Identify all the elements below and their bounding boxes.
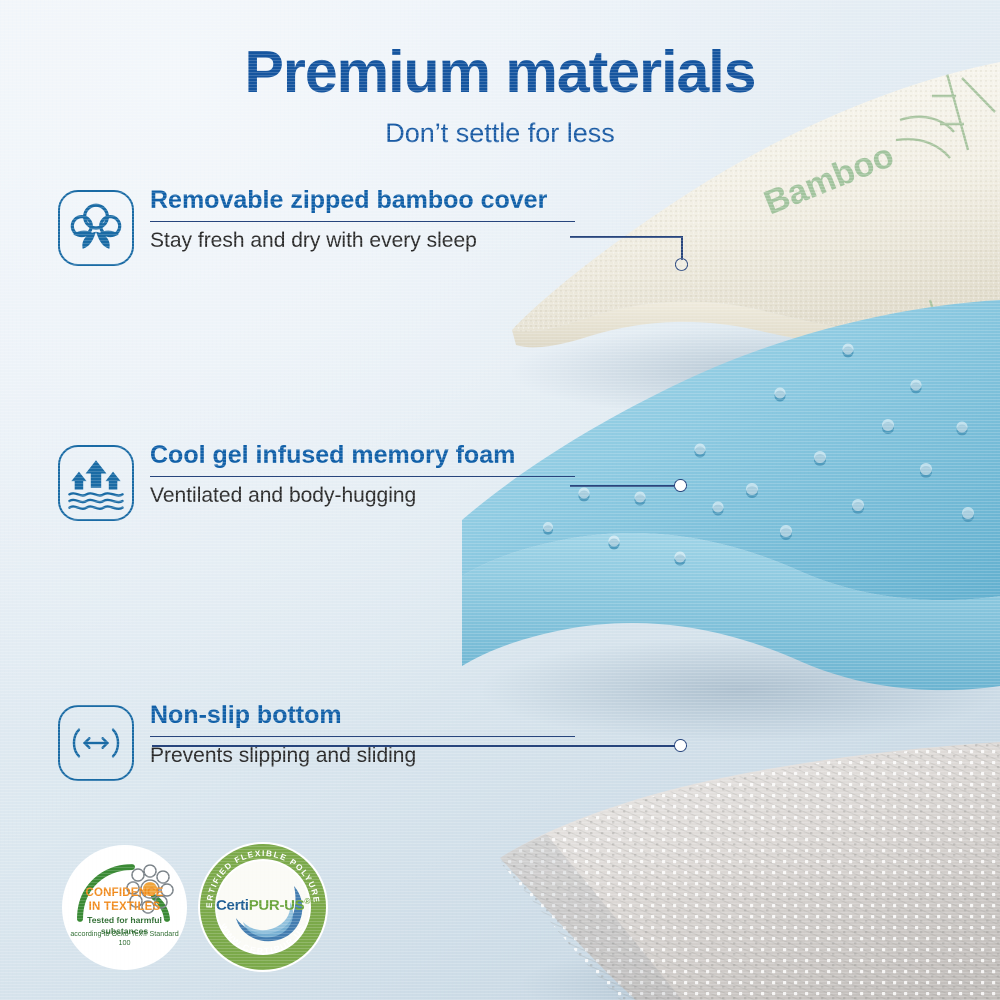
feature-divider <box>150 476 575 478</box>
horizontal-arrows-icon <box>58 705 134 781</box>
oeko-line1: CONFIDENCE IN TEXTILES <box>70 887 179 915</box>
feature-divider <box>150 221 575 223</box>
page-subtitle: Don’t settle for less <box>0 118 1000 149</box>
layer-nonslip-bottom <box>480 730 1000 1000</box>
feature-subtext: Prevents slipping and sliding <box>150 744 670 768</box>
oeko-line4: according to Oeko-Tex® Standard 100 <box>66 929 183 947</box>
oeko-tex-badge: CONFIDENCE IN TEXTILES Tested for harmfu… <box>62 845 187 970</box>
cotton-boll-icon <box>58 190 134 266</box>
feature-subtext: Stay fresh and dry with every sleep <box>150 229 670 253</box>
feature-heading: Removable zipped bamboo cover <box>150 186 670 215</box>
feature-divider <box>150 736 575 738</box>
airflow-waves-icon <box>58 445 134 521</box>
feature-subtext: Ventilated and body-hugging <box>150 484 670 508</box>
certipur-us-badge: CONTAINS CERTIFIED FLEXIBLE POLYURETHANE… <box>198 842 328 972</box>
certipur-wordmark: CertiPUR-US® <box>198 897 328 914</box>
infographic-canvas: Bamboo <box>0 0 1000 1000</box>
feature-heading: Non-slip bottom <box>150 701 670 730</box>
page-title: Premium materials <box>0 38 1000 106</box>
feature-heading: Cool gel infused memory foam <box>150 441 670 470</box>
